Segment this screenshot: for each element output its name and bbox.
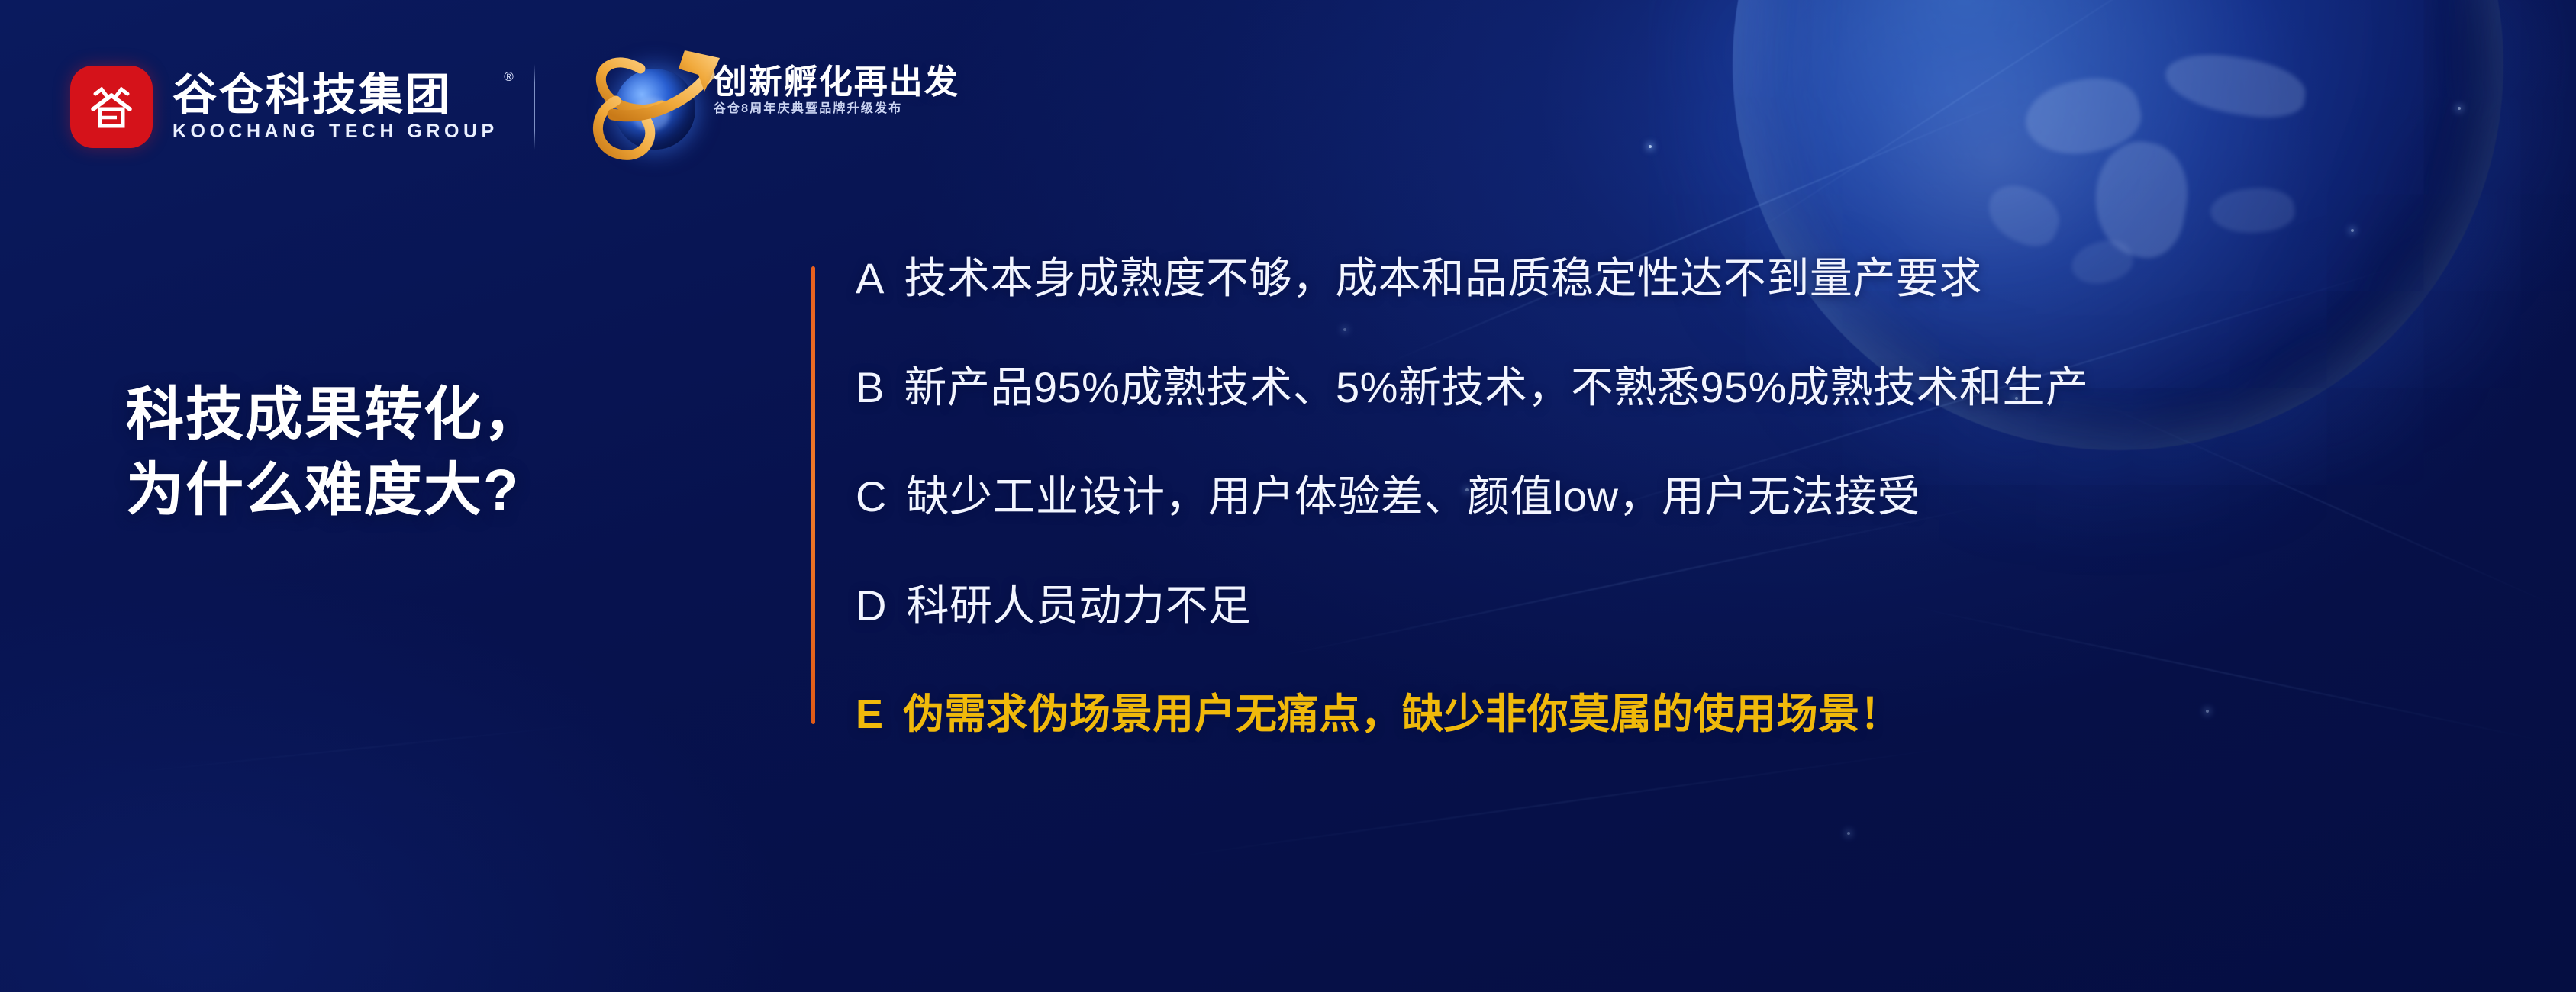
answer-text: 技术本身成熟度不够，成本和品质稳定性达不到量产要求	[904, 257, 1982, 300]
answer-text: 缺少工业设计，用户体验差、颜值low，用户无法接受	[906, 475, 1920, 518]
koochang-logo-icon	[70, 66, 153, 148]
answer-key: C	[856, 475, 886, 518]
page-title-line-2: 为什么难度大?	[126, 453, 543, 529]
trademark-symbol: ®	[504, 70, 514, 83]
answer-key: A	[856, 257, 884, 300]
brand-name-en: KOOCHANG TECH GROUP	[172, 122, 498, 141]
anniversary-subline: 谷仓8周年庆典暨品牌升级发布	[714, 103, 959, 115]
answer-list: A 技术本身成熟度不够，成本和品质稳定性达不到量产要求 B 新产品95%成熟技术…	[811, 257, 2565, 735]
header-divider	[534, 64, 535, 150]
brand-wordmark: 谷仓科技集团 ® KOOCHANG TECH GROUP	[172, 73, 498, 141]
brand-logo: 谷仓科技集团 ® KOOCHANG TECH GROUP	[70, 66, 498, 148]
list-item: D 科研人员动力不足	[856, 585, 2565, 694]
brand-name-cn: 谷仓科技集团 ®	[172, 73, 498, 118]
list-item-highlighted: E 伪需求伪场景用户无痛点，缺少非你莫属的使用场景！	[856, 694, 2565, 735]
anniversary-emblem: 创新孵化再出发 谷仓8周年庆典暨品牌升级发布	[570, 46, 937, 168]
page-title: 科技成果转化， 为什么难度大?	[126, 378, 543, 529]
answer-key: B	[856, 366, 884, 409]
page-title-line-1: 科技成果转化，	[126, 378, 543, 453]
answer-text: 新产品95%成熟技术、5%新技术，不熟悉95%成熟技术和生产	[904, 366, 2088, 409]
list-item: A 技术本身成熟度不够，成本和品质稳定性达不到量产要求	[856, 257, 2565, 366]
slide-canvas: 谷仓科技集团 ® KOOCHANG TECH GROUP	[0, 0, 2576, 992]
answer-key: E	[856, 694, 883, 735]
answer-text: 科研人员动力不足	[906, 585, 1251, 627]
header-logo-lockup: 谷仓科技集团 ® KOOCHANG TECH GROUP	[70, 46, 937, 168]
answer-text: 伪需求伪场景用户无痛点，缺少非你莫属的使用场景！	[903, 694, 1901, 735]
anniversary-headline: 创新孵化再出发	[714, 66, 959, 99]
list-item: B 新产品95%成熟技术、5%新技术，不熟悉95%成熟技术和生产	[856, 366, 2565, 475]
brand-name-cn-text: 谷仓科技集团	[172, 70, 452, 120]
answer-key: D	[856, 585, 886, 627]
list-item: C 缺少工业设计，用户体验差、颜值low，用户无法接受	[856, 475, 2565, 585]
anniversary-text: 创新孵化再出发 谷仓8周年庆典暨品牌升级发布	[714, 66, 959, 115]
